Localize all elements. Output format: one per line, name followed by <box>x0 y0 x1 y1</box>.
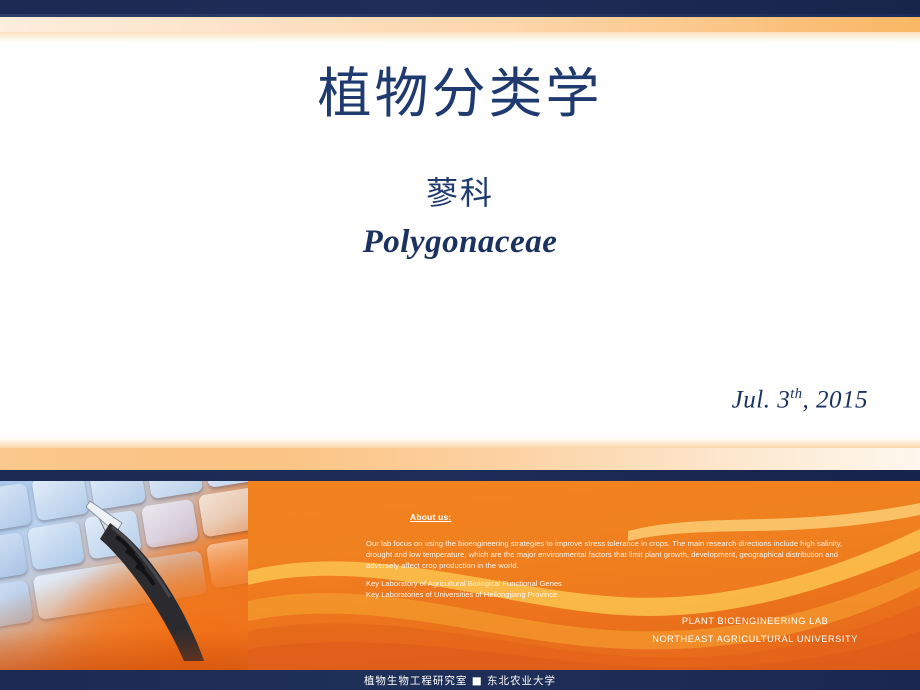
bottom-bar-text: 植物生物工程研究室 ■ 东北农业大学 <box>364 673 556 688</box>
about-us-body: Our lab focus on using the bioengineerin… <box>366 539 844 571</box>
title-block: 植物分类学 蓼科 Polygonaceae <box>0 60 920 261</box>
organization-line: NORTHEAST AGRICULTURAL UNIVERSITY <box>652 631 858 649</box>
top-peach-fade <box>0 32 920 42</box>
date-main: Jul. 3 <box>732 386 791 413</box>
date-year: , 2015 <box>803 386 869 413</box>
lab-affiliations: Key Laboratory of Agricultural Biologica… <box>366 578 844 600</box>
mid-peach-band <box>0 448 920 470</box>
bottom-status-bar: 植物生物工程研究室 ■ 东北农业大学 <box>0 670 920 690</box>
keyboard-photo <box>0 481 248 670</box>
family-name-latin: Polygonaceae <box>0 214 920 261</box>
family-name-chinese: 蓼科 <box>0 128 920 214</box>
about-panel: About us: Our lab focus on using the bio… <box>248 481 920 670</box>
top-peach-gradient-band <box>0 17 920 32</box>
date-ordinal-suffix: th <box>790 386 802 402</box>
page-title: 植物分类学 <box>0 60 920 128</box>
mid-peach-fade <box>0 438 920 448</box>
top-navy-band <box>0 0 920 14</box>
footer-zone: About us: Our lab focus on using the bio… <box>0 481 920 670</box>
about-us-heading: About us: <box>410 512 451 522</box>
mid-navy-band <box>0 470 920 481</box>
organization-line: PLANT BIOENGINEERING LAB <box>652 613 858 631</box>
lab-affiliation-line: Key Laboratory of Agricultural Biologica… <box>366 578 844 589</box>
organization-name: PLANT BIOENGINEERING LAB NORTHEAST AGRIC… <box>652 613 858 649</box>
presentation-date: Jul. 3th, 2015 <box>732 386 868 414</box>
keyboard-bottom-shadow <box>0 630 248 670</box>
lab-affiliation-line: Key Laboratories of Universities of Heil… <box>366 589 844 600</box>
presentation-slide: 植物分类学 蓼科 Polygonaceae Jul. 3th, 2015 <box>0 0 920 690</box>
